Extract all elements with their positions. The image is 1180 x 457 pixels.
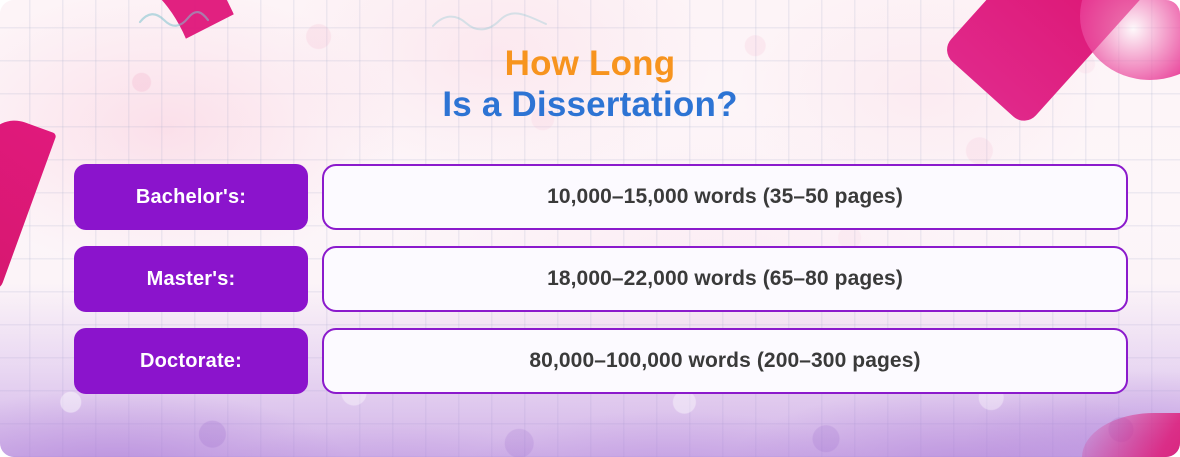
- degree-label-masters: Master's:: [74, 246, 308, 312]
- list-item: Bachelor's: 10,000–15,000 words (35–50 p…: [74, 164, 1128, 230]
- degree-length-list: Bachelor's: 10,000–15,000 words (35–50 p…: [74, 164, 1128, 394]
- title-line-primary: How Long: [0, 44, 1180, 85]
- dissertation-length-infographic: How Long Is a Dissertation? Bachelor's: …: [0, 0, 1180, 457]
- list-item: Master's: 18,000–22,000 words (65–80 pag…: [74, 246, 1128, 312]
- degree-label-bachelors: Bachelor's:: [74, 164, 308, 230]
- title-line-secondary: Is a Dissertation?: [0, 85, 1180, 126]
- degree-value-bachelors: 10,000–15,000 words (35–50 pages): [322, 164, 1128, 230]
- degree-value-doctorate: 80,000–100,000 words (200–300 pages): [322, 328, 1128, 394]
- infographic-content: How Long Is a Dissertation? Bachelor's: …: [0, 0, 1180, 457]
- degree-value-masters: 18,000–22,000 words (65–80 pages): [322, 246, 1128, 312]
- page-title: How Long Is a Dissertation?: [0, 44, 1180, 126]
- list-item: Doctorate: 80,000–100,000 words (200–300…: [74, 328, 1128, 394]
- degree-label-doctorate: Doctorate:: [74, 328, 308, 394]
